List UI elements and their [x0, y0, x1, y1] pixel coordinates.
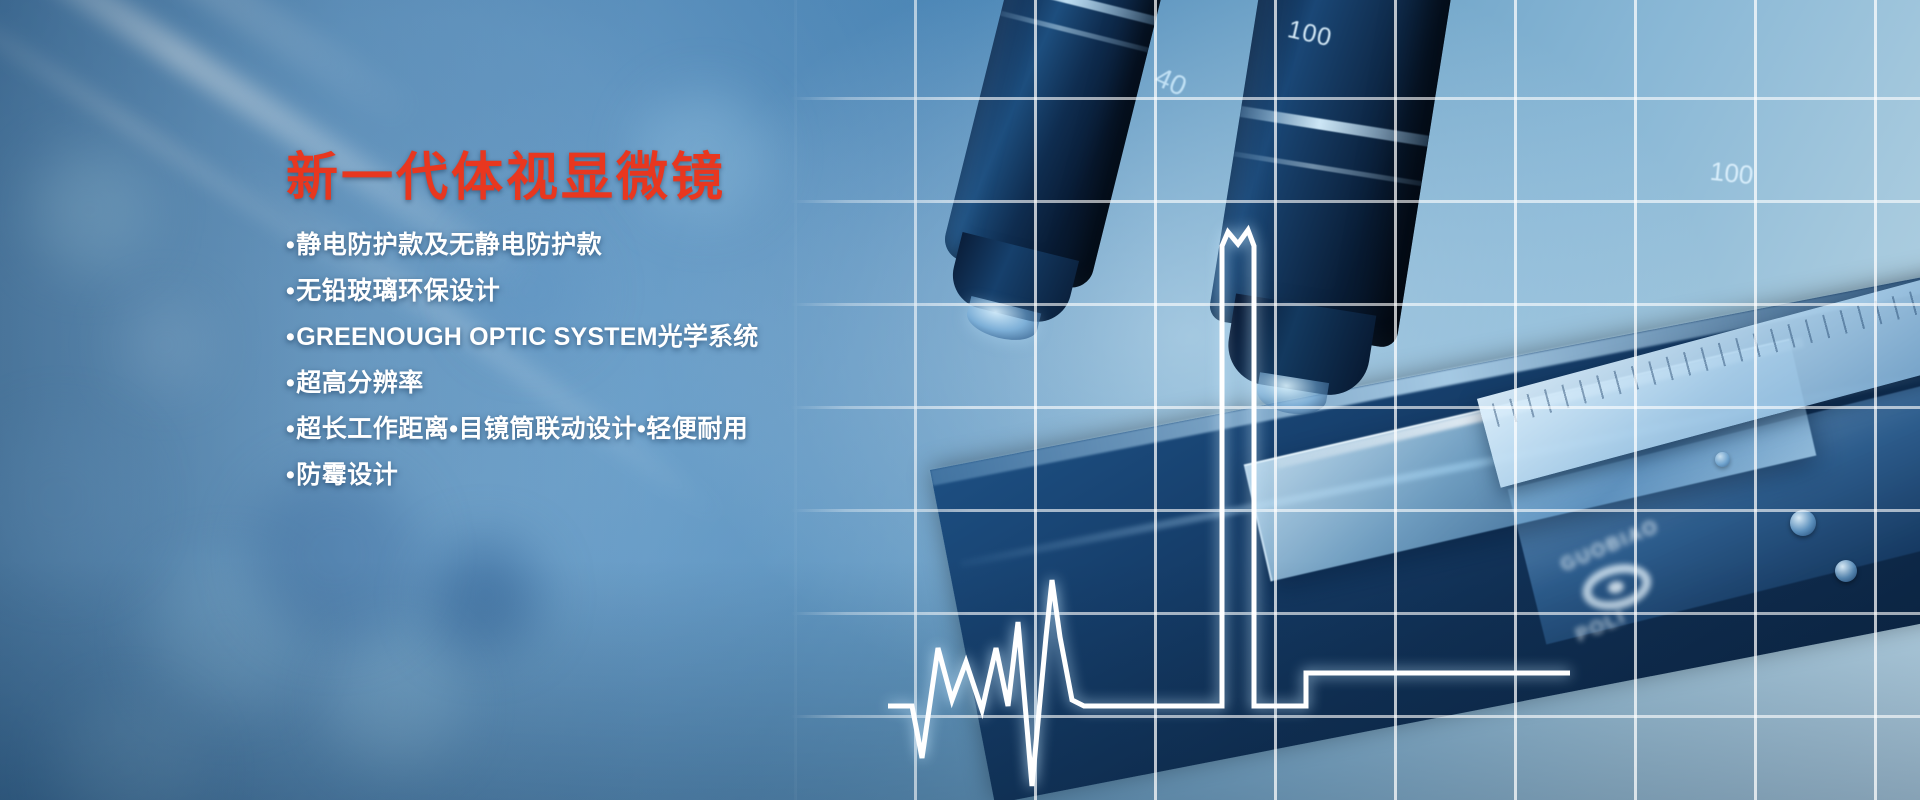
bullet-icon: •	[286, 417, 295, 442]
banner-copy: 新一代体视显微镜 •静电防护款及无静电防护款 •无铅玻璃环保设计 •GREENO…	[286, 150, 1046, 509]
bullet-icon: •	[286, 279, 295, 304]
feature-item-6: •防霉设计	[286, 463, 1046, 488]
bullet-icon: •	[286, 371, 295, 396]
bullet-icon: •	[286, 325, 295, 350]
feature-item-label: 超高分辨率	[296, 369, 424, 397]
bullet-icon: •	[286, 463, 295, 488]
feature-list: •静电防护款及无静电防护款 •无铅玻璃环保设计 •GREENOUGH OPTIC…	[286, 233, 1046, 488]
objective-band-label-right: 100	[1708, 156, 1754, 191]
feature-item-label: GREENOUGH OPTIC SYSTEM光学系统	[296, 323, 758, 351]
feature-item-3: •GREENOUGH OPTIC SYSTEM光学系统	[286, 325, 1046, 350]
feature-item-label: 超长工作距离•目镜筒联动设计•轻便耐用	[296, 415, 748, 443]
page-title: 新一代体视显微镜	[286, 150, 1046, 207]
feature-item-5: •超长工作距离•目镜筒联动设计•轻便耐用	[286, 417, 1046, 442]
feature-item-label: 静电防护款及无静电防护款	[296, 231, 602, 259]
feature-item-1: •静电防护款及无静电防护款	[286, 233, 1046, 258]
bullet-icon: •	[286, 233, 295, 258]
feature-item-label: 无铅玻璃环保设计	[296, 277, 500, 305]
feature-item-2: •无铅玻璃环保设计	[286, 279, 1046, 304]
hero-banner: GUOBIAO POLI 40 100/1.25 160/0.17 100	[0, 0, 1920, 800]
feature-item-label: 防霉设计	[296, 461, 398, 489]
feature-item-4: •超高分辨率	[286, 371, 1046, 396]
